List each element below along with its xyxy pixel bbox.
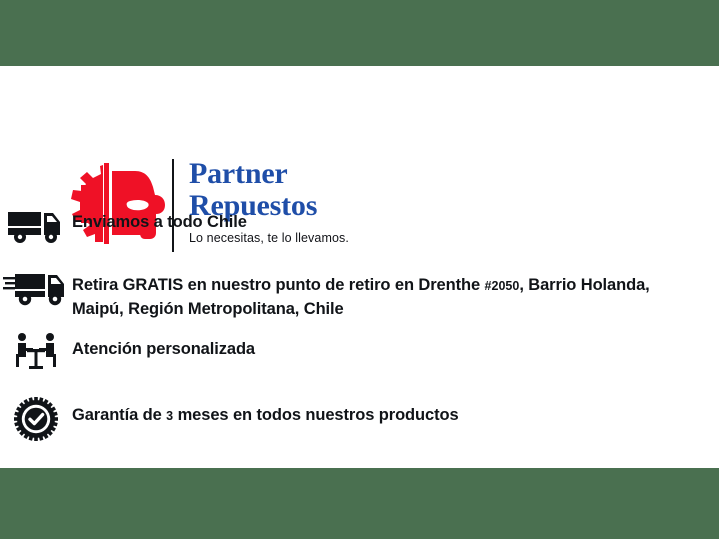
people-at-table-icon [0,330,72,372]
delivery-truck-icon [0,203,72,244]
feature-row-service: Atención personalizada [0,330,719,386]
feature-label-warranty: Garantía de 3 meses en todos nuestros pr… [72,396,719,428]
brand-header: Partner Repuestos Lo necesitas, te lo ll… [0,66,719,200]
small-figure: 3 [166,409,173,423]
feature-label-shipping: Enviamos a todo Chile [72,203,719,234]
promo-banner: Partner Repuestos Lo necesitas, te lo ll… [0,0,719,539]
bottom-green-band [0,468,719,539]
warranty-badge-check-icon [0,396,72,441]
small-figure: #2050 [485,279,520,293]
moving-truck-icon [0,266,72,306]
feature-list: Enviamos a todo Chile Ret [0,203,719,452]
brand-name-line-1: Partner [189,158,589,190]
feature-label-service: Atención personalizada [72,330,719,361]
feature-row-pickup: Retira GRATIS en nuestro punto de retiro… [0,266,719,322]
feature-row-shipping: Enviamos a todo Chile [0,203,719,259]
feature-row-warranty: Garantía de 3 meses en todos nuestros pr… [0,396,719,452]
top-green-band [0,0,719,66]
feature-label-pickup: Retira GRATIS en nuestro punto de retiro… [72,266,719,321]
